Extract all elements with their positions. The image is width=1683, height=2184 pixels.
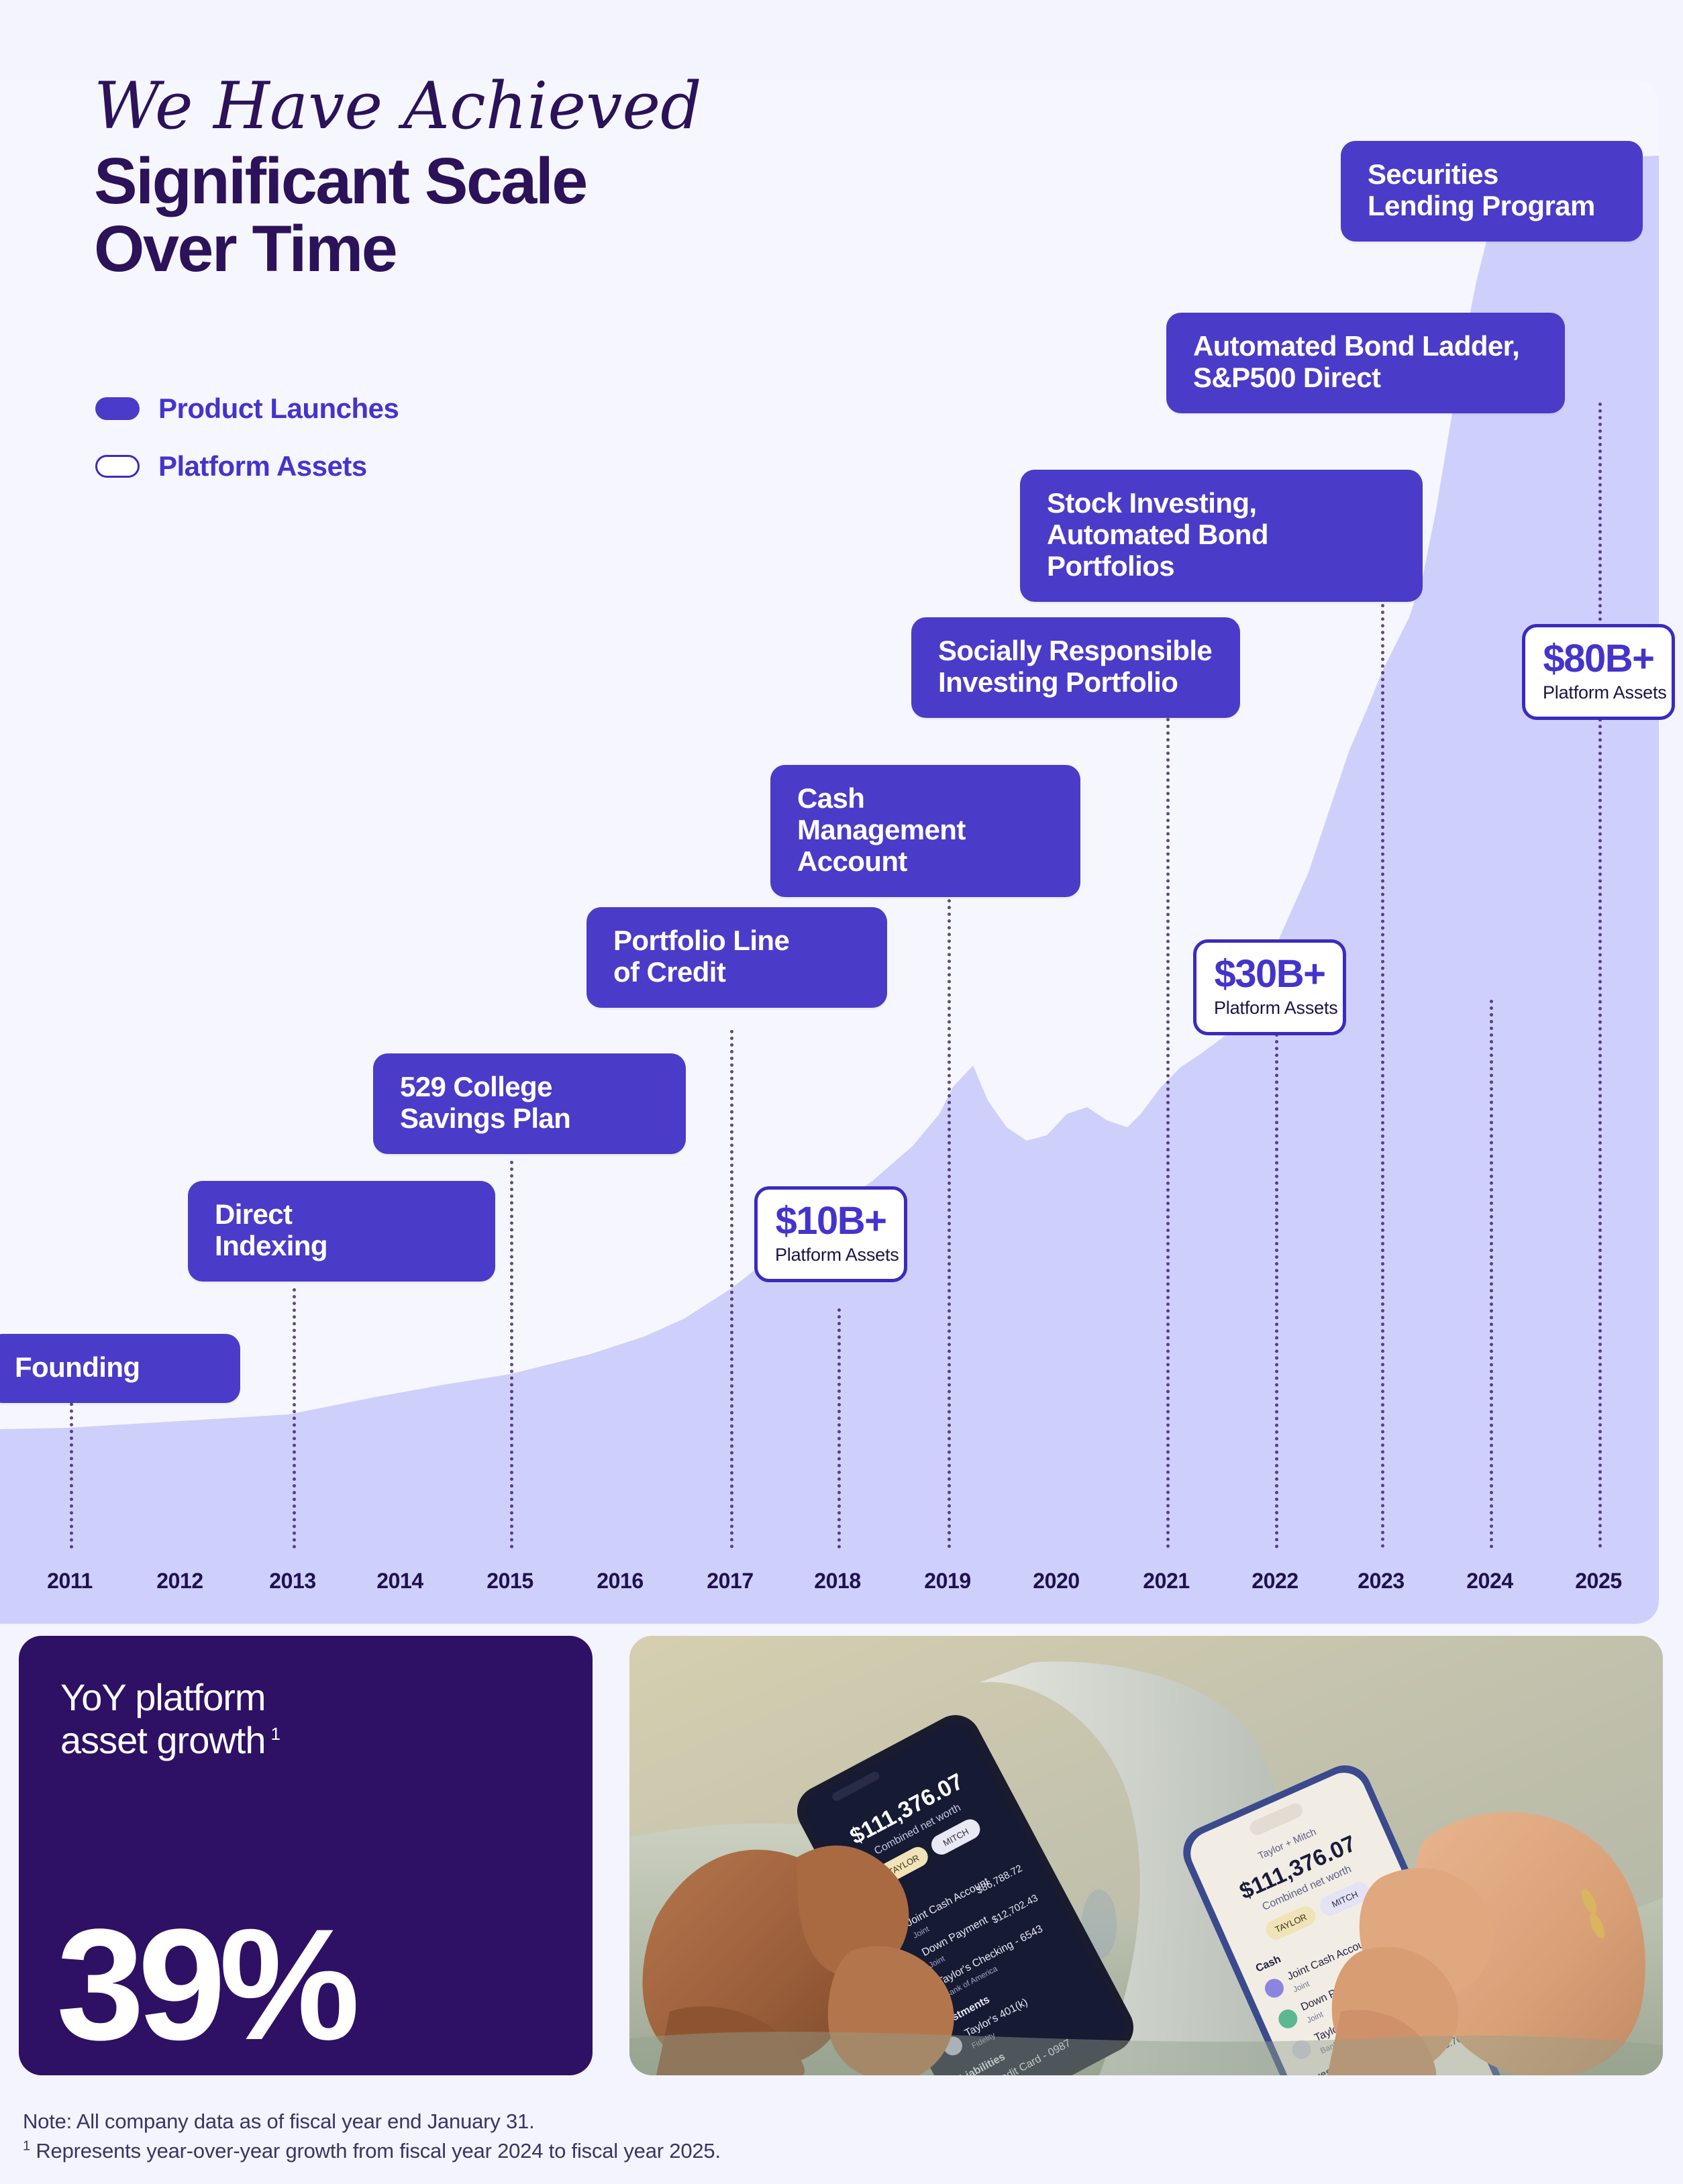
callout-subtitle: Platform Assets [1543,682,1654,703]
milestone-cash-management-account[interactable]: Cash Management Account [770,765,1080,897]
lifestyle-photo: $111,376.07 Combined net worth TAYLOR MI… [629,1636,1663,2075]
x-tick: 2012 [156,1569,203,1594]
milestone-direct-indexing[interactable]: Direct Indexing [188,1181,495,1282]
milestone-stock-investing-automated-bond-portfolios[interactable]: Stock Investing, Automated Bond Portfoli… [1020,470,1423,602]
x-tick: 2013 [269,1569,316,1594]
connector-2021 [1166,698,1170,1549]
legend-item-platform-assets[interactable]: Platform Assets [95,446,399,487]
legend-item-product-launches[interactable]: Product Launches [95,388,399,429]
milestone-portfolio-line-of-credit[interactable]: Portfolio Line of Credit [586,907,887,1008]
chart-legend: Product Launches Platform Assets [95,388,399,503]
footnote-note: Note: All company data as of fiscal year… [23,2107,721,2136]
x-tick: 2023 [1358,1569,1405,1594]
x-tick: 2019 [924,1569,971,1594]
x-tick: 2015 [487,1569,533,1594]
connector-2013 [293,1288,296,1549]
title-script-line: We Have Achieved [94,74,702,138]
x-tick: 2025 [1575,1569,1622,1594]
x-tick: 2014 [376,1569,423,1594]
yoy-growth-stat-card: YoY platform asset growth1 39% [19,1636,593,2075]
x-tick: 2021 [1143,1569,1190,1594]
milestone-529-college-savings-plan[interactable]: 529 College Savings Plan [373,1053,686,1154]
x-tick: 2022 [1252,1569,1298,1594]
photo-illustration: $111,376.07 Combined net worth TAYLOR MI… [629,1636,1663,2075]
stat-value: 39% [56,1912,353,2058]
connector-2024 [1490,1000,1493,1549]
footnote-1-text: Represents year-over-year growth from fi… [36,2139,721,2163]
x-tick: 2024 [1466,1569,1513,1594]
connector-2017 [730,1030,733,1549]
milestone-automated-bond-ladder-sp500-direct[interactable]: Automated Bond Ladder, S&P500 Direct [1166,313,1565,413]
connector-2019 [948,859,951,1549]
stat-footnote-marker: 1 [271,1724,280,1744]
footnotes: Note: All company data as of fiscal year… [23,2107,721,2166]
connector-2023 [1381,550,1384,1549]
footnote-1: 1 Represents year-over-year growth from … [23,2136,721,2166]
page-title: We Have Achieved Significant Scale Over … [94,74,702,283]
callout-value: $30B+ [1214,955,1325,994]
milestone-securities-lending-program[interactable]: Securities Lending Program [1341,141,1643,242]
legend-pill-filled-icon [95,397,140,420]
x-tick: 2011 [47,1569,93,1594]
connector-2015 [510,1161,513,1549]
legend-pill-outline-icon [95,455,140,478]
callout-value: $10B+ [775,1202,886,1241]
connector-2018 [837,1308,841,1549]
x-tick: 2020 [1033,1569,1080,1594]
footnote-marker: 1 [23,2139,30,2154]
stat-label-text: YoY platform asset growth [60,1676,266,1761]
callout-subtitle: Platform Assets [775,1245,886,1265]
milestone-founding[interactable]: Founding [0,1334,240,1403]
milestone-socially-responsible-investing-portfolio[interactable]: Socially Responsible Investing Portfolio [911,617,1240,718]
infographic-page: 2011 2012 2013 2014 2015 2016 2017 2018 … [0,0,1683,2184]
callout-value: $80B+ [1543,639,1654,678]
x-tick: 2016 [597,1569,644,1594]
x-tick: 2018 [814,1569,861,1594]
connector-2022 [1275,1000,1278,1549]
legend-label: Product Launches [158,393,399,425]
callout-subtitle: Platform Assets [1214,998,1325,1019]
callout-30b-platform-assets[interactable]: $30B+ Platform Assets [1193,939,1346,1035]
title-bold-line-1: Significant Scale [94,148,702,215]
x-axis: 2011 2012 2013 2014 2015 2016 2017 2018 … [0,1549,1659,1624]
callout-10b-platform-assets[interactable]: $10B+ Platform Assets [754,1186,907,1282]
legend-label: Platform Assets [158,450,367,482]
x-tick: 2017 [707,1569,754,1594]
stat-label: YoY platform asset growth1 [60,1676,551,1762]
callout-80b-platform-assets[interactable]: $80B+ Platform Assets [1522,624,1675,720]
connector-2025 [1598,403,1602,1549]
title-bold-line-2: Over Time [94,215,702,283]
